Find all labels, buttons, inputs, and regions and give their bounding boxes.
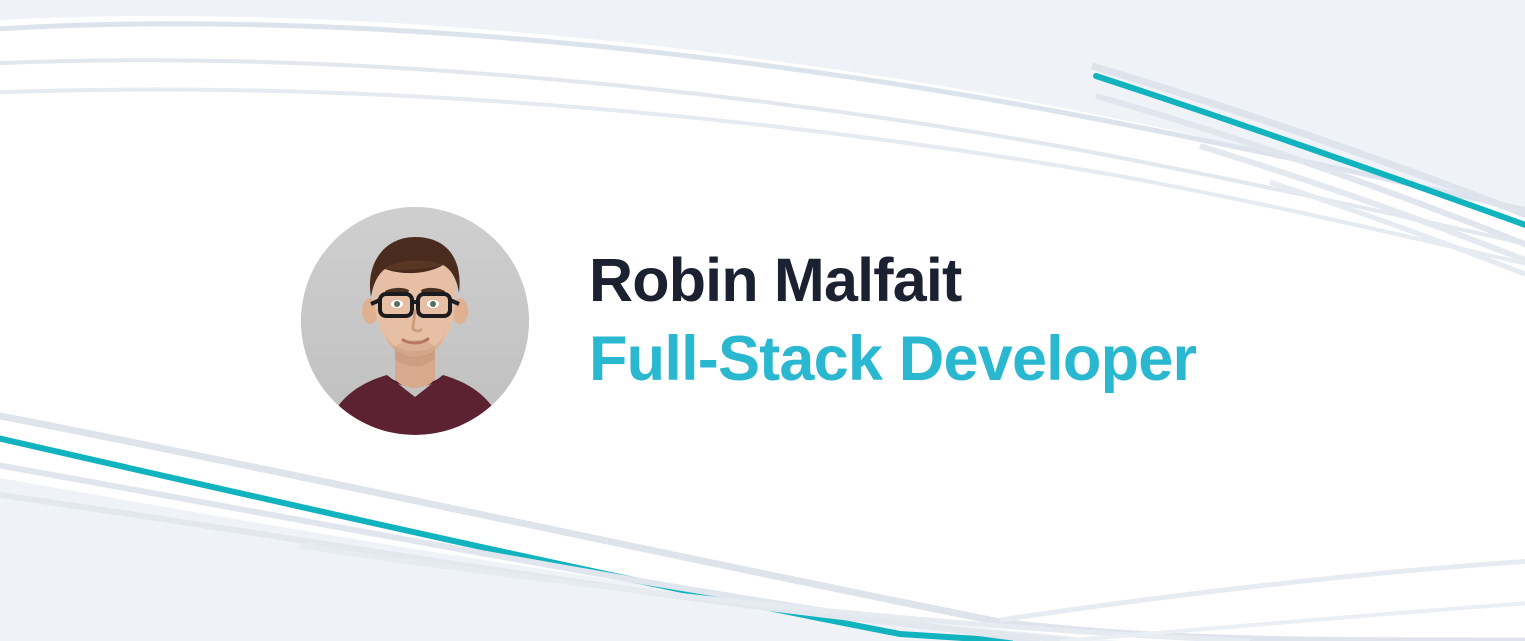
- profile-banner: Robin Malfait Full-Stack Developer: [0, 0, 1525, 641]
- banner-content: Robin Malfait Full-Stack Developer: [0, 0, 1525, 641]
- pupil-right: [430, 301, 436, 307]
- page-title: Robin Malfait: [589, 249, 1196, 311]
- avatar: [301, 207, 529, 435]
- chin-stubble: [395, 340, 435, 358]
- pupil-left: [394, 301, 400, 307]
- avatar-portrait-illustration: [301, 207, 529, 435]
- identity-block: Robin Malfait Full-Stack Developer: [589, 249, 1196, 391]
- job-title: Full-Stack Developer: [589, 327, 1196, 391]
